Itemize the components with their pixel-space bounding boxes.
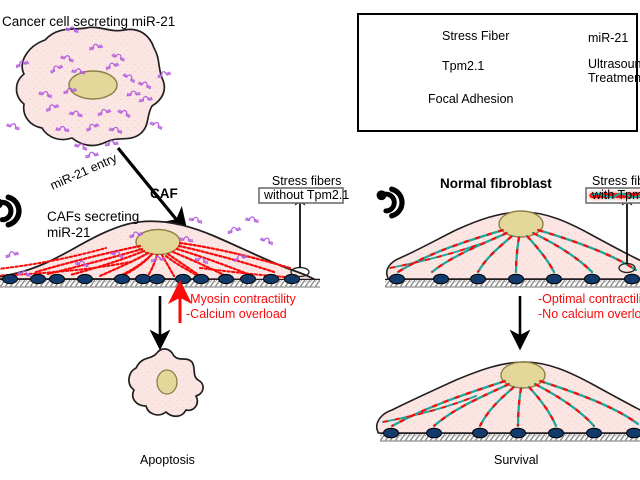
ultrasound-icon-normal [377, 189, 402, 216]
legend-label-focal-adhesion: Focal Adhesion [428, 92, 513, 106]
normal-annotation-1: -Optimal contractility [538, 292, 640, 306]
caf-annotation-2: -Calcium overload [186, 307, 287, 321]
apoptotic-cell-group [129, 349, 203, 416]
legend-label-stress-fiber: Stress Fiber [442, 29, 509, 43]
legend-label-mir21: miR-21 [588, 31, 628, 45]
caf-annotation-1: -Myosin contractility [186, 292, 296, 306]
survival-cell-group [377, 362, 640, 441]
survival-label: Survival [494, 453, 538, 467]
normal-annotation-2: -No calcium overload [538, 307, 640, 321]
cancer-cell-group [6, 26, 171, 158]
normal-fibroblast-group [385, 200, 640, 287]
legend-label-tpm21: Tpm2.1 [442, 59, 484, 73]
cancer-cell-title: Cancer cell secreting miR-21 [2, 14, 175, 30]
legend-label-ultrasound: Ultrasound Treatment [588, 57, 640, 86]
normal-fibroblast-label: Normal fibroblast [440, 176, 552, 192]
figure-canvas: Cancer cell secreting miR-21 miR-21 entr… [0, 0, 640, 480]
apoptotic-nucleus [157, 370, 177, 394]
caf-label: CAF [150, 186, 178, 202]
normal-inset-caption: Stress fibers with Tpm2.1 [592, 174, 640, 203]
ultrasound-icon-left [0, 197, 19, 225]
apoptosis-label: Apoptosis [140, 453, 195, 467]
cafs-secreting-label: CAFs secreting miR-21 [47, 209, 139, 240]
caf-inset-caption: Stress fibers without Tpm2.1 [264, 174, 349, 203]
cancer-cell-nucleus [69, 71, 117, 99]
